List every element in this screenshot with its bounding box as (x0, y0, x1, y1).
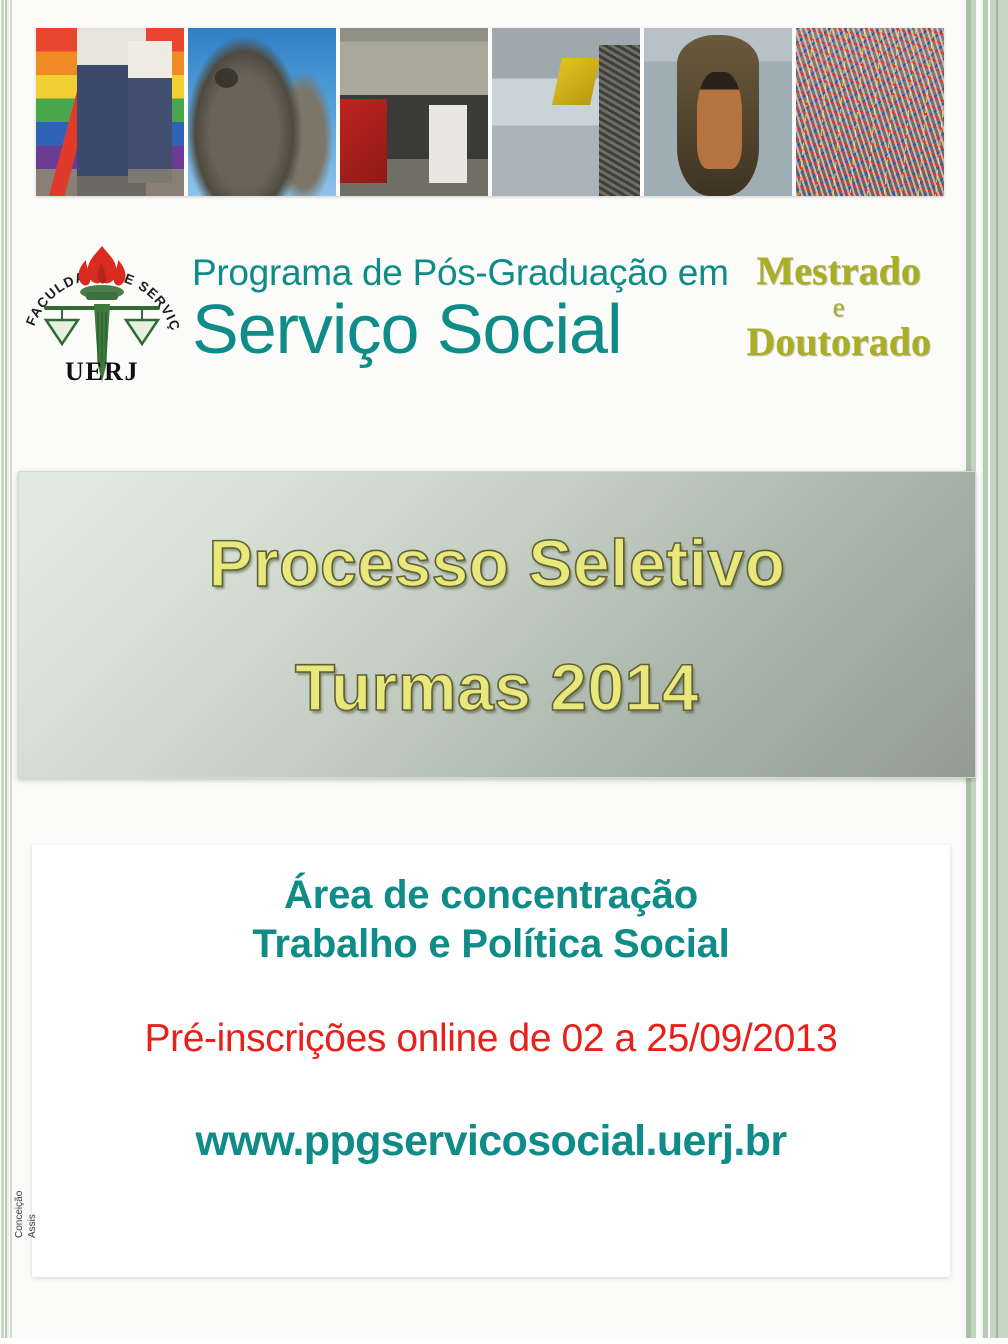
program-name: Serviço Social (192, 294, 729, 365)
degrees-offered: Mestrado e Doutorado (729, 250, 949, 369)
info-card: Área de concentração Trabalho e Política… (32, 845, 950, 1277)
main-title-banner: Processo Seletivo Turmas 2014 (18, 471, 976, 778)
website-link[interactable]: www.ppgservicosocial.uerj.br (52, 1117, 930, 1166)
title-line-classes: Turmas 2014 (295, 649, 699, 725)
photo-strip (36, 28, 944, 196)
header-band: FACULDADE DE SERVIÇO SOCIAL (16, 206, 944, 414)
credit-last-name: Assis (27, 1142, 40, 1238)
degree-conjunction: e (729, 293, 949, 322)
credit-first-name: Conceição (14, 1142, 27, 1238)
title-line-process: Processo Seletivo (208, 525, 785, 601)
child-canoe-photo (644, 28, 792, 196)
poster-page: FACULDADE DE SERVIÇO SOCIAL (0, 0, 1008, 1344)
degree-masters: Mestrado (729, 250, 949, 292)
street-protest-photo (340, 28, 488, 196)
crowd-aerial-photo (796, 28, 944, 196)
svg-text:UERJ: UERJ (65, 357, 139, 386)
program-title: Programa de Pós-Graduação em Serviço Soc… (188, 254, 729, 365)
degree-doctorate: Doutorado (729, 321, 949, 363)
designer-credit: Conceição Assis (14, 1142, 39, 1238)
concentration-label: Área de concentração (52, 871, 930, 920)
concentration-value: Trabalho e Política Social (52, 920, 930, 969)
program-subtitle: Programa de Pós-Graduação em (192, 254, 729, 292)
bottom-border-ornament (0, 1338, 1008, 1344)
uerj-faculdade-servico-social-logo: FACULDADE DE SERVIÇO SOCIAL (16, 216, 188, 404)
pride-march-photo (36, 28, 184, 196)
marx-engels-statue-photo (188, 28, 336, 196)
registration-deadline: Pré-inscrições online de 02 a 25/09/2013 (52, 1017, 930, 1061)
concentration-block: Área de concentração Trabalho e Política… (52, 871, 930, 969)
urban-flood-photo (492, 28, 640, 196)
